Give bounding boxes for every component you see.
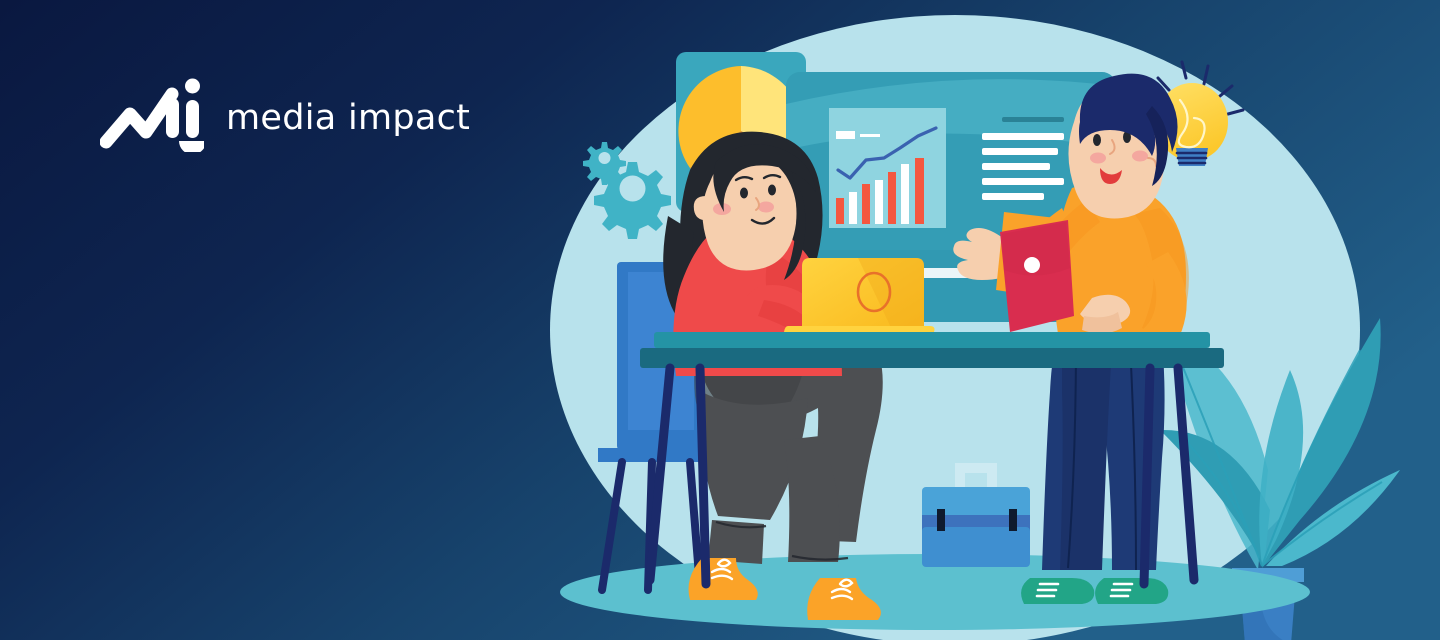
brand-lockup: media impact [100, 78, 470, 152]
brand-name: media impact [226, 95, 470, 136]
banner-root: media impact [0, 0, 1440, 640]
bar-chart-card [829, 108, 946, 228]
red-folder [1000, 220, 1074, 332]
gear-large-icon [594, 162, 671, 239]
laptop [782, 258, 935, 340]
mi-trendline-monogram-icon [100, 78, 204, 152]
